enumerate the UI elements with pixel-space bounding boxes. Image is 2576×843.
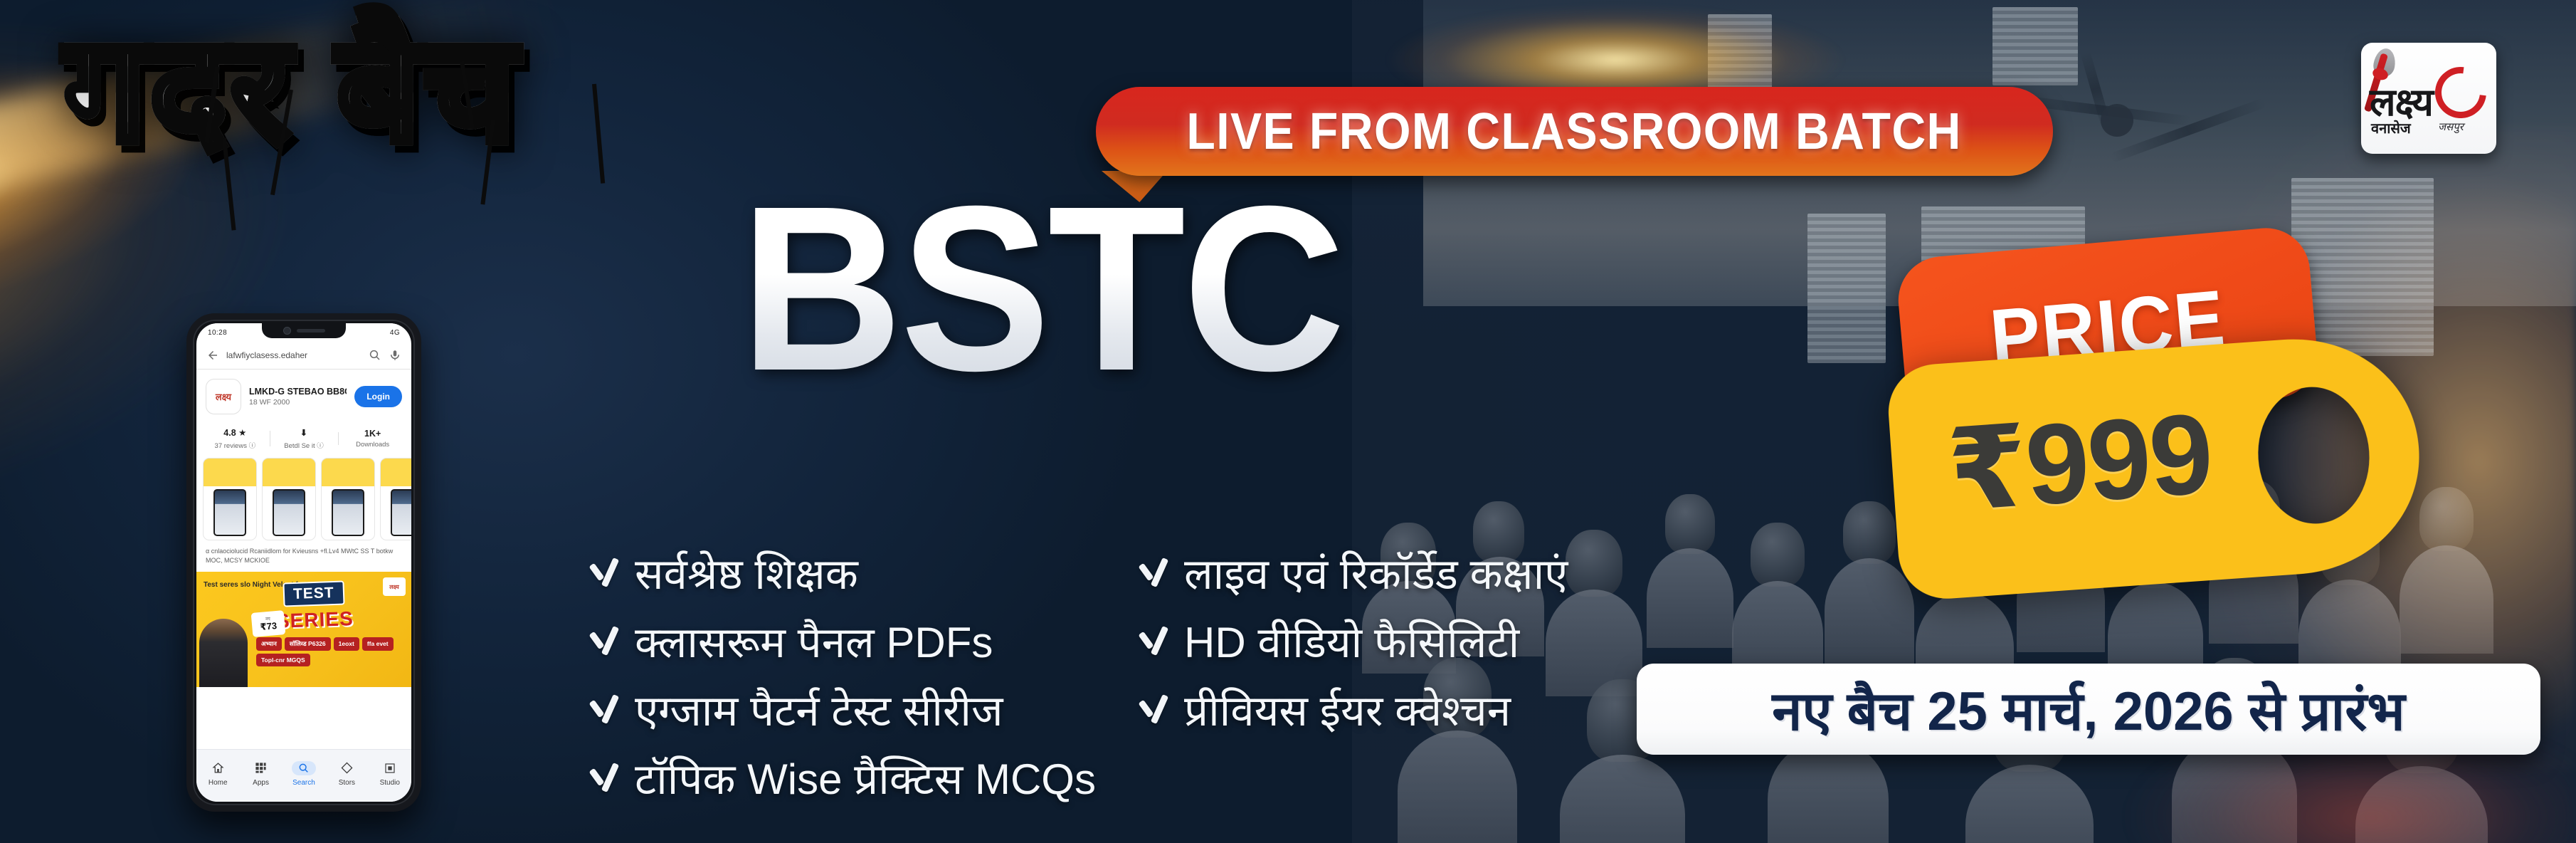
phone-notch: [262, 323, 346, 338]
check-icon: [1137, 556, 1170, 589]
nav-label: Apps: [253, 779, 269, 787]
app-developer: 18 WF 2000: [249, 398, 347, 407]
app-stat-size: ⬇ Betdl Se it ⓘ: [270, 427, 339, 450]
logo-sub-text: वनासेज: [2371, 118, 2411, 137]
search-icon[interactable]: [369, 349, 381, 362]
downloads-label: Downloads: [338, 441, 407, 449]
front-camera-icon: [283, 327, 291, 335]
promo-test-word: TEST: [283, 581, 344, 607]
size-label: Betdl Se it ⓘ: [270, 440, 339, 450]
phone-screen: 10:28 4G lafwfiyclasess.edaher लक्ष्य LM…: [196, 323, 411, 802]
feature-label: सर्वश्रेष्ठ शिक्षक: [635, 543, 858, 602]
screenshot-carousel[interactable]: [196, 458, 411, 547]
app-header: लक्ष्य LMKD-G STEBAO BB8OV 18 WF 2000 Lo…: [196, 370, 411, 421]
back-arrow-icon[interactable]: [206, 349, 219, 362]
feature-item: क्लासरूम पैनल PDFs: [588, 607, 1096, 675]
microphone-icon[interactable]: [389, 349, 401, 362]
promo-price-badge: नए ₹73: [251, 610, 286, 637]
feature-label: टॉपिक Wise प्रैक्टिस MCQs: [635, 748, 1096, 807]
screenshot-thumb[interactable]: [321, 458, 375, 540]
nav-label: Studio: [380, 779, 400, 787]
status-network: 4G: [390, 329, 400, 337]
login-button[interactable]: Login: [354, 386, 402, 407]
feature-label: प्रीवियस ईयर क्वेश्चन: [1184, 680, 1511, 738]
address-bar-url[interactable]: lafwfiyclasess.edaher: [226, 350, 361, 360]
nav-item-search[interactable]: Search: [292, 761, 316, 787]
promo-chip: सॉलिव्ड P6326: [285, 637, 331, 651]
store-icon: [334, 761, 359, 775]
logo-sub2-text: जसपुर: [2438, 120, 2464, 134]
studio-icon: [378, 761, 402, 775]
feature-label: एग्जाम पैटर्न टेस्ट सीरीज: [635, 680, 1003, 738]
promo-teacher-photo: [199, 619, 248, 687]
app-name: LMKD-G STEBAO BB8OV: [249, 387, 347, 397]
home-icon: [206, 761, 230, 775]
gadar-title: गदर बैच: [64, 16, 640, 229]
app-stat-downloads: 1K+ Downloads: [338, 429, 407, 449]
earpiece-speaker: [297, 329, 325, 333]
promo-chip: अभ्यान: [256, 637, 282, 651]
feature-list: सर्वश्रेष्ठ शिक्षक क्लासरूम पैनल PDFs एग…: [588, 538, 1568, 812]
app-stat-rating: 4.8 ★ 37 reviews ⓘ: [201, 427, 270, 450]
app-description: α cnlaociolucid Rcaniidlom for Kvieusns …: [196, 547, 411, 572]
ribbon-label: LIVE FROM CLASSROOM BATCH: [1187, 103, 1962, 161]
brand-logo: लक्ष्य वनासेज जसपुर: [2361, 43, 2496, 154]
promo-badge-amount: ₹73: [260, 621, 278, 632]
download-icon: ⬇: [270, 427, 339, 438]
check-icon: [588, 556, 621, 589]
screenshot-thumb[interactable]: [380, 458, 411, 540]
nav-label: Search: [292, 779, 315, 787]
check-icon: [1137, 624, 1170, 657]
classroom-window: [1992, 7, 2078, 85]
promo-series-word: SERIES: [275, 607, 354, 633]
feature-label: लाइव एवं रिकॉर्डेड कक्षाएं: [1184, 543, 1568, 602]
nav-item-store[interactable]: Stors: [334, 761, 359, 787]
promo-chip: 1eoxt: [334, 637, 359, 651]
promo-chip: ffa evet: [362, 637, 394, 651]
nav-item-home[interactable]: Home: [206, 761, 230, 787]
screenshot-thumb[interactable]: [262, 458, 316, 540]
rating-value: 4.8 ★: [201, 427, 270, 438]
feature-item: टॉपिक Wise प्रैक्टिस MCQs: [588, 743, 1096, 812]
feature-column-left: सर्वश्रेष्ठ शिक्षक क्लासरूम पैनल PDFs एग…: [588, 538, 1096, 812]
app-icon: लक्ष्य: [206, 379, 241, 414]
feature-label: क्लासरूम पैनल PDFs: [635, 612, 993, 670]
gadar-title-text: गदर बैच: [64, 16, 640, 162]
nav-label: Home: [208, 779, 228, 787]
logo-ring-icon: [2424, 56, 2496, 128]
start-date-banner: नए बैच 25 मार्च, 2026 से प्रारंभ: [1637, 664, 2540, 755]
apps-grid-icon: [249, 761, 273, 775]
feature-item: प्रीवियस ईयर क्वेश्चन: [1137, 675, 1568, 743]
phone-mockup: 10:28 4G lafwfiyclasess.edaher लक्ष्य LM…: [186, 313, 421, 812]
screenshot-thumb[interactable]: [203, 458, 257, 540]
feature-item: HD वीडियो फैसिलिटी: [1137, 607, 1568, 675]
feature-column-right: लाइव एवं रिकॉर्डेड कक्षाएं HD वीडियो फैस…: [1137, 538, 1568, 812]
test-series-promo[interactable]: Test seres slo Night Velost feste लक्ष्य…: [196, 572, 411, 687]
promo-chip: Topl-cnr MGQS: [256, 654, 310, 666]
nav-item-apps[interactable]: Apps: [249, 761, 273, 787]
ceiling-fan-hub: [2101, 104, 2133, 137]
price-amount: ₹999: [1943, 386, 2215, 537]
price-tag-group: PRICE ₹999: [1893, 235, 2434, 591]
nav-label: Stors: [339, 779, 355, 787]
phone-bottom-nav[interactable]: Home Apps Search: [196, 749, 411, 802]
browser-address-bar[interactable]: lafwfiyclasess.edaher: [196, 342, 411, 370]
check-icon: [588, 761, 621, 794]
downloads-count: 1K+: [338, 429, 407, 439]
status-time: 10:28: [208, 329, 227, 337]
course-title: BSTC: [740, 171, 1343, 406]
rating-reviews: 37 reviews ⓘ: [201, 440, 270, 450]
feature-item: सर्वश्रेष्ठ शिक्षक: [588, 538, 1096, 607]
promo-banner: गदर बैच 10:28 4G lafwfiyclasess.edaher: [0, 0, 2576, 843]
promo-chip-list: अभ्यान सॉलिव्ड P6326 1eoxt ffa evet Topl…: [256, 637, 406, 666]
check-icon: [1137, 693, 1170, 726]
promo-brand-logo: लक्ष्य: [383, 577, 406, 596]
check-icon: [588, 693, 621, 726]
nav-item-studio[interactable]: Studio: [378, 761, 402, 787]
check-icon: [588, 624, 621, 657]
search-icon: [292, 761, 316, 775]
start-date-text: नए बैच 25 मार्च, 2026 से प्रारंभ: [1772, 673, 2405, 746]
feature-item: एग्जाम पैटर्न टेस्ट सीरीज: [588, 675, 1096, 743]
feature-item: लाइव एवं रिकॉर्डेड कक्षाएं: [1137, 538, 1568, 607]
app-stats-row: 4.8 ★ 37 reviews ⓘ ⬇ Betdl Se it ⓘ 1K+ D…: [196, 421, 411, 458]
feature-label: HD वीडियो फैसिलिटी: [1184, 612, 1519, 670]
